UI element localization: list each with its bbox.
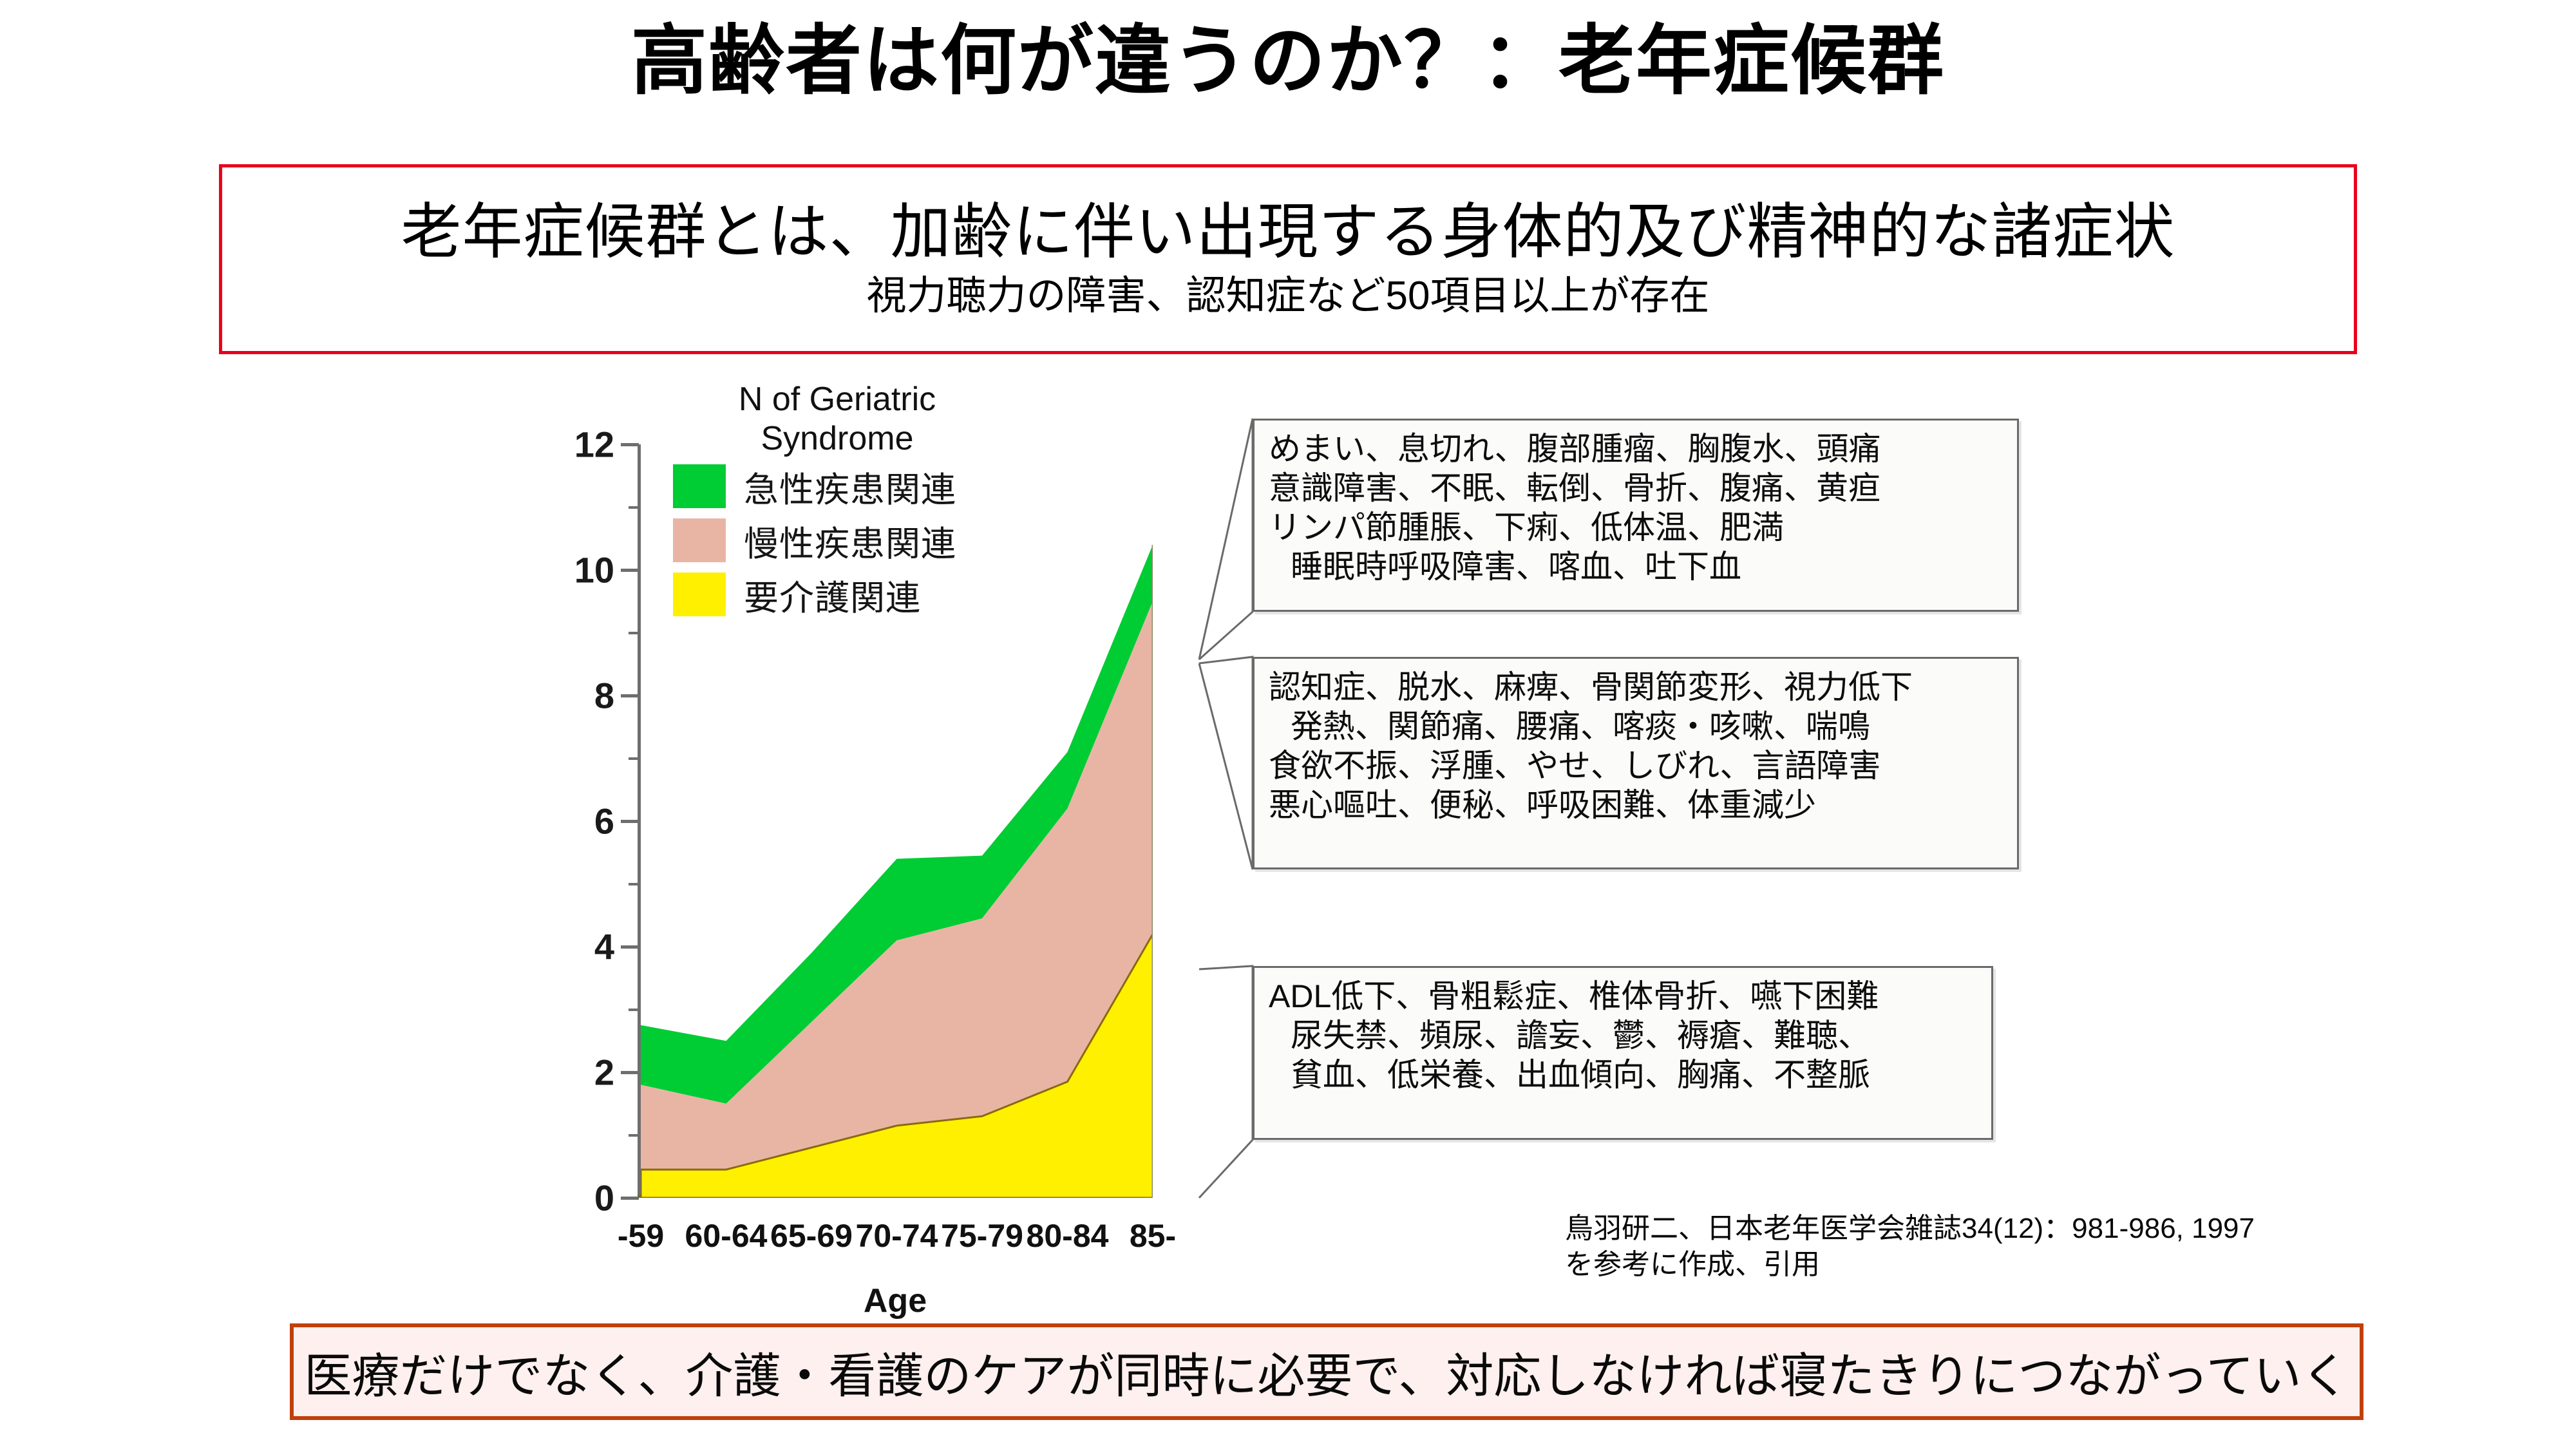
y-axis-tick-label: 0 bbox=[594, 1177, 614, 1219]
callout-care-symptoms: ADL低下、骨粗鬆症、椎体骨折、嚥下困難 尿失禁、頻尿、譫妄、鬱、褥瘡、難聴、 … bbox=[1253, 966, 1993, 1140]
citation: 鳥羽研二、日本老年医学会雑誌34(12)：981-986, 1997 を参考に作… bbox=[1565, 1211, 2402, 1283]
x-axis-tick-label: 65-69 bbox=[770, 1217, 853, 1255]
x-axis-tick-label: 75-79 bbox=[941, 1217, 1023, 1255]
y-axis-minor-tick bbox=[629, 632, 639, 634]
y-axis-tick-label: 2 bbox=[594, 1052, 614, 1094]
callout-line: 認知症、脱水、麻痺、骨関節変形、視力低下 bbox=[1269, 668, 2003, 707]
y-axis-tick-label: 12 bbox=[574, 424, 614, 466]
callout-line: 悪心嘔吐、便秘、呼吸困難、体重減少 bbox=[1269, 786, 2003, 825]
y-axis-tick bbox=[621, 820, 639, 823]
y-axis-minor-tick bbox=[629, 1134, 639, 1137]
callout-line: めまい、息切れ、腹部腫瘤、胸腹水、頭痛 bbox=[1269, 430, 2003, 469]
y-axis-tick bbox=[621, 945, 639, 949]
y-axis-tick bbox=[621, 443, 639, 446]
definition-sub-text: 視力聴力の障害、認知症など50項目以上が存在 bbox=[867, 272, 1710, 320]
x-axis-tick-label: 85- bbox=[1130, 1217, 1176, 1255]
y-axis-minor-tick bbox=[629, 883, 639, 885]
definition-main-text: 老年症候群とは、加齢に伴い出現する身体的及び精神的な諸症状 bbox=[401, 198, 2175, 265]
y-axis-tick bbox=[621, 1197, 639, 1200]
callout-chronic-symptoms: 認知症、脱水、麻痺、骨関節変形、視力低下 発熱、関節痛、腰痛、喀痰・咳嗽、喘鳴 … bbox=[1253, 657, 2019, 869]
y-axis-tick-label: 4 bbox=[594, 926, 614, 968]
callout-line: 睡眠時呼吸障害、喀血、吐下血 bbox=[1269, 547, 2003, 587]
y-axis-tick bbox=[621, 1071, 639, 1074]
callout-acute-symptoms: めまい、息切れ、腹部腫瘤、胸腹水、頭痛 意識障害、不眠、転倒、骨折、腹痛、黄疸 … bbox=[1253, 419, 2019, 612]
y-axis-tick bbox=[621, 694, 639, 697]
x-axis-tick-label: -59 bbox=[618, 1217, 664, 1255]
callout-line: 食欲不振、浮腫、やせ、しびれ、言語障害 bbox=[1269, 746, 2003, 786]
callout-line: ADL低下、骨粗鬆症、椎体骨折、嚥下困難 bbox=[1269, 977, 1977, 1016]
conclusion-box: 医療だけでなく、介護・看護のケアが同時に必要で、対応しなければ寝たきりにつながっ… bbox=[290, 1323, 2363, 1420]
definition-box: 老年症候群とは、加齢に伴い出現する身体的及び精神的な諸症状 視力聴力の障害、認知… bbox=[219, 164, 2357, 354]
plot-area: 024681012 -5960-6465-6970-7475-7980-8485… bbox=[638, 444, 1153, 1198]
callout-line: リンパ節腫脹、下痢、低体温、肥満 bbox=[1269, 508, 2003, 547]
callout-line: 尿失禁、頻尿、譫妄、鬱、褥瘡、難聴、 bbox=[1269, 1016, 1977, 1056]
conclusion-text: 医療だけでなく、介護・看護のケアが同時に必要で、対応しなければ寝たきりにつながっ… bbox=[304, 1338, 2349, 1406]
callout-line: 意識障害、不眠、転倒、骨折、腹痛、黄疸 bbox=[1269, 469, 2003, 508]
x-axis-tick-label: 70-74 bbox=[856, 1217, 938, 1255]
y-axis-tick-label: 8 bbox=[594, 675, 614, 717]
stacked-area-series bbox=[641, 444, 1153, 1198]
y-axis-minor-tick bbox=[629, 757, 639, 760]
y-axis-tick-label: 6 bbox=[594, 800, 614, 842]
x-axis-tick-label: 80-84 bbox=[1027, 1217, 1109, 1255]
geriatric-syndrome-chart: N of Geriatric Syndrome 急性疾患関連 慢性疾患関連 要介… bbox=[528, 380, 1327, 1307]
page-title: 高齢者は何が違うのか？：老年症候群 bbox=[0, 18, 2576, 106]
callout-line: 発熱、関節痛、腰痛、喀痰・咳嗽、喘鳴 bbox=[1269, 707, 2003, 746]
y-axis-minor-tick bbox=[629, 1009, 639, 1011]
y-axis-minor-tick bbox=[629, 506, 639, 509]
x-axis-title: Age bbox=[638, 1282, 1153, 1320]
y-axis-tick-label: 10 bbox=[574, 549, 614, 591]
x-axis-tick-label: 60-64 bbox=[685, 1217, 768, 1255]
y-axis-tick bbox=[621, 569, 639, 572]
citation-line-1: 鳥羽研二、日本老年医学会雑誌34(12)：981-986, 1997 bbox=[1565, 1211, 2402, 1247]
citation-line-2: を参考に作成、引用 bbox=[1565, 1247, 2402, 1283]
callout-line: 貧血、低栄養、出血傾向、胸痛、不整脈 bbox=[1269, 1056, 1977, 1095]
